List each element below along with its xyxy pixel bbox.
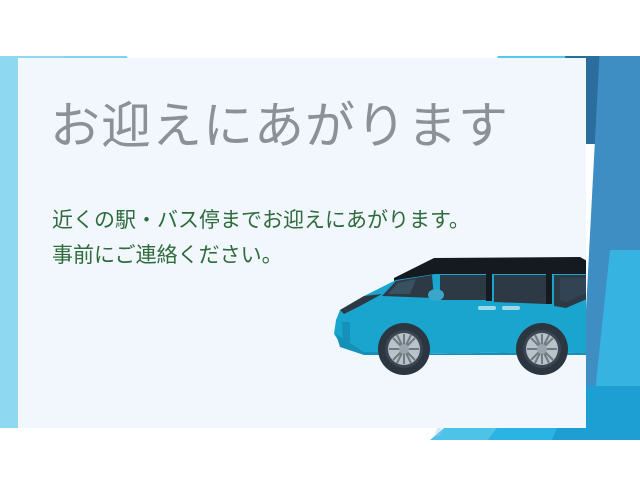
minivan-illustration <box>330 248 586 383</box>
content-panel: お迎えにあがります 近くの駅・バス停までお迎えにあがります。 事前にご連絡くださ… <box>18 58 586 428</box>
description-line-1: 近くの駅・バス停までお迎えにあがります。 <box>52 204 470 239</box>
front-wheel-icon <box>378 323 430 375</box>
minivan-side-view-icon <box>330 248 586 383</box>
page-title: お迎えにあがります <box>50 100 509 153</box>
rear-wheel-icon <box>516 323 568 375</box>
banner-image: お迎えにあがります 近くの駅・バス停までお迎えにあがります。 事前にご連絡くださ… <box>0 0 640 480</box>
